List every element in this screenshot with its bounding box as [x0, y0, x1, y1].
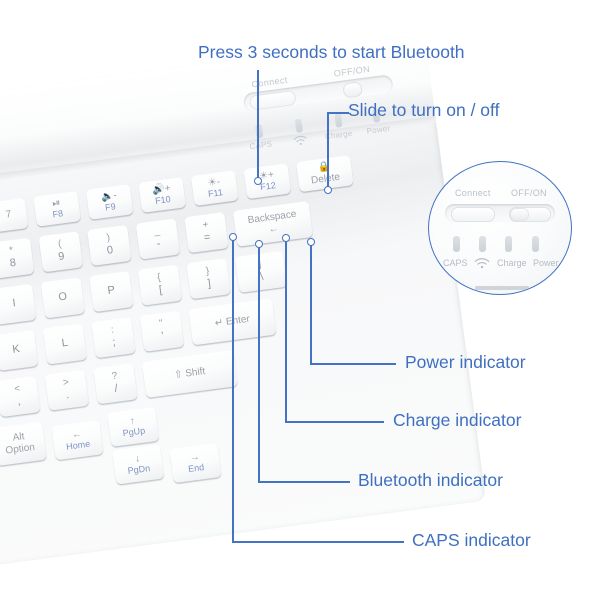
key-f8[interactable]: ⏯ F8: [33, 191, 81, 226]
key-backslash[interactable]: | \: [235, 251, 287, 293]
key-period[interactable]: > .: [45, 370, 89, 411]
leader-line-power-slide-h: [327, 112, 349, 114]
leader-line-charge-indicator-h: [285, 421, 384, 423]
key-end[interactable]: → End: [169, 443, 221, 483]
leader-line-bluetooth-start: [257, 70, 259, 179]
key-semicolon[interactable]: : ;: [91, 317, 135, 358]
leader-line-caps-indicator-v: [232, 239, 234, 542]
annotation-power-slide: Slide to turn on / off: [348, 100, 499, 121]
key-9[interactable]: ( 9: [39, 231, 83, 272]
key-p[interactable]: P: [89, 271, 133, 312]
key-option[interactable]: Alt Option: [0, 422, 47, 466]
key-quote[interactable]: " ': [140, 311, 184, 352]
anchor-dot-bluetooth-indicator: [255, 240, 263, 248]
key-f11[interactable]: ☀- F11: [191, 170, 239, 205]
inset-led-caps: [453, 236, 460, 252]
inset-keyboard-edge: [475, 286, 529, 290]
leader-line-bluetooth-indicator-h: [258, 481, 350, 483]
inset-led-charge: [505, 236, 512, 252]
key-equal[interactable]: + =: [184, 212, 228, 253]
key-pgup[interactable]: ↑ PgUp: [107, 407, 159, 447]
key-o[interactable]: O: [41, 277, 85, 318]
key-comma[interactable]: < ,: [0, 376, 40, 417]
key-8[interactable]: * 8: [0, 238, 34, 279]
anchor-dot-charge-indicator: [282, 234, 290, 242]
key-pgdn[interactable]: ↓ PgDn: [112, 445, 164, 485]
key-l[interactable]: L: [43, 324, 87, 365]
key-f7[interactable]: 7: [0, 198, 28, 232]
key-left-bracket[interactable]: { [: [138, 265, 182, 306]
key-slash[interactable]: ? /: [93, 363, 137, 404]
inset-connect-label: Connect: [455, 188, 491, 198]
inset-power-slider[interactable]: [509, 207, 551, 222]
anchor-dot-power-indicator: [307, 238, 315, 246]
leader-line-power-indicator-h: [310, 363, 396, 365]
key-right-bracket[interactable]: } ]: [186, 258, 230, 299]
inset-led-charge-label: Charge: [497, 258, 527, 268]
annotation-caps-indicator: CAPS indicator: [412, 530, 531, 551]
inset-led-bluetooth-icon: [474, 258, 490, 271]
anchor-dot-caps-indicator: [229, 233, 237, 241]
key-f10[interactable]: 🔊+ F10: [138, 177, 186, 212]
annotation-power-indicator: Power indicator: [405, 352, 526, 373]
keyboard-led-bluetooth-icon: [293, 135, 308, 149]
anchor-dot-power-slide: [324, 186, 332, 194]
annotation-bluetooth-start: Press 3 seconds to start Bluetooth: [198, 42, 465, 63]
annotation-bluetooth-indicator: Bluetooth indicator: [358, 470, 503, 491]
leader-line-power-slide-v: [327, 112, 329, 189]
leader-line-bluetooth-indicator-v: [258, 246, 260, 482]
annotation-charge-indicator: Charge indicator: [393, 410, 521, 431]
inset-led-bluetooth: [479, 236, 486, 252]
magnified-control-panel-inset: Connect OFF/ON CAPS Charge Power: [428, 161, 572, 295]
key-i[interactable]: I: [0, 284, 36, 325]
screenshot-canvas: Connect OFF/ON CAPS Charge Power 7 ⏯ F8: [0, 0, 600, 600]
leader-line-power-indicator-v: [310, 244, 312, 364]
inset-led-power: [532, 236, 539, 252]
lock-icon: 🔒: [317, 162, 331, 174]
key-minus[interactable]: _ -: [136, 219, 180, 260]
key-f12[interactable]: ☀+ F12: [244, 163, 292, 198]
key-home[interactable]: ← Home: [52, 420, 104, 460]
key-f9[interactable]: 🔈- F9: [86, 184, 134, 219]
inset-connect-button[interactable]: [451, 207, 495, 222]
leader-line-caps-indicator-h: [232, 541, 404, 543]
inset-led-caps-label: CAPS: [443, 258, 468, 268]
leader-line-charge-indicator-v: [285, 240, 287, 422]
key-k[interactable]: K: [0, 330, 38, 371]
anchor-dot-bluetooth-start: [254, 177, 262, 185]
inset-power-switch-label: OFF/ON: [511, 188, 547, 198]
inset-led-power-label: Power: [533, 258, 559, 268]
key-0[interactable]: ) 0: [87, 225, 131, 266]
